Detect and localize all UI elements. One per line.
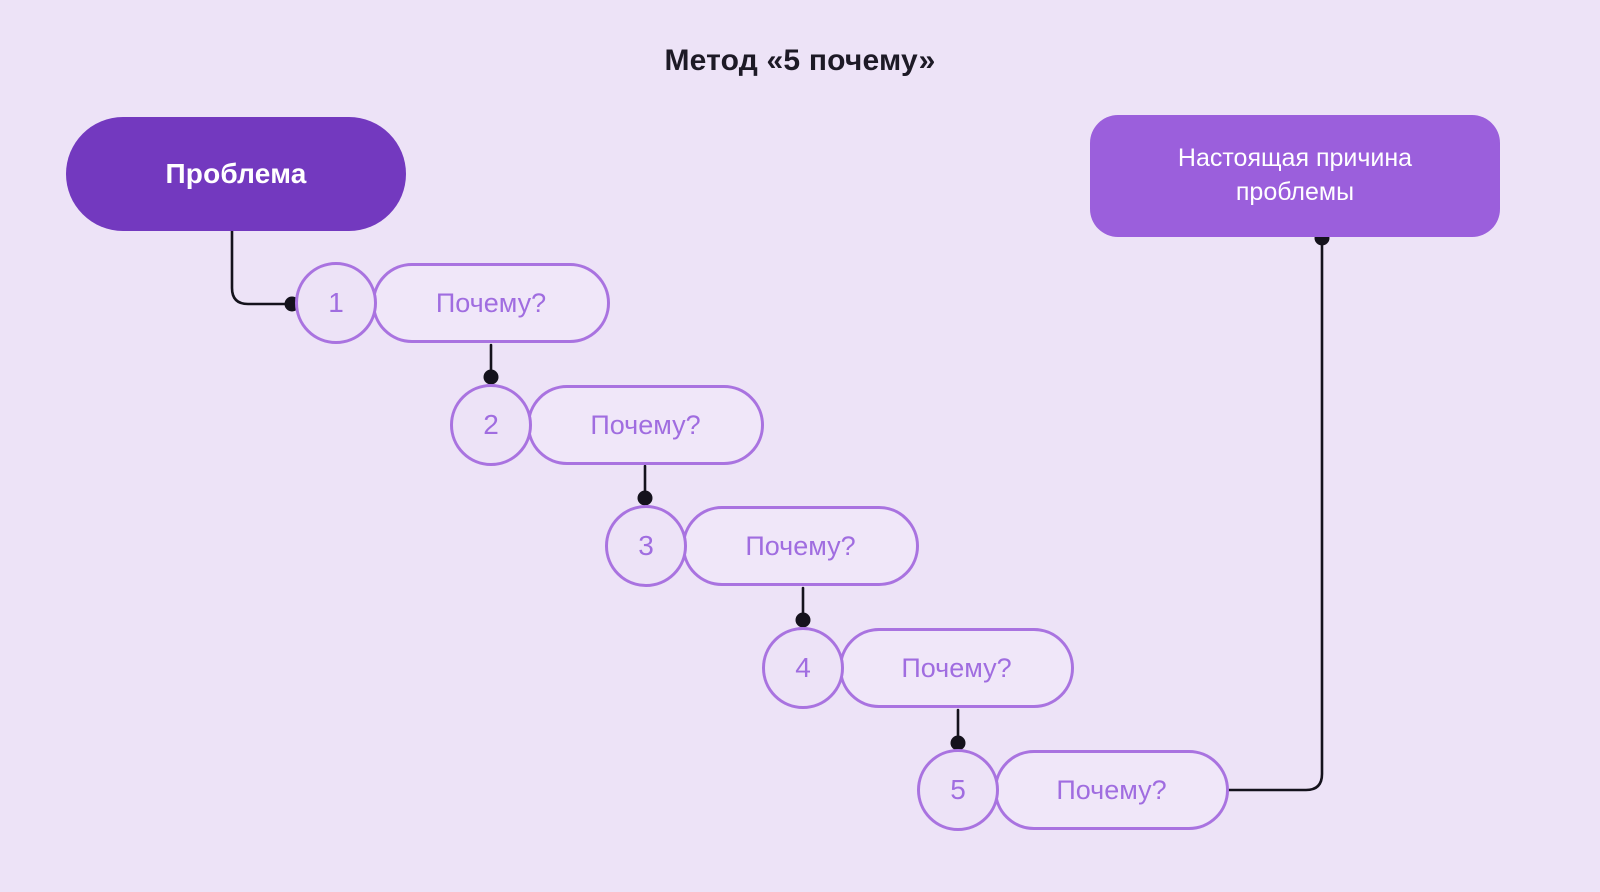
step-5-number: 5 xyxy=(950,774,966,806)
connector-problem-to-1 xyxy=(232,231,290,304)
step-1-number-circle[interactable]: 1 xyxy=(295,262,377,344)
connector-dot-step-4 xyxy=(796,613,811,628)
step-4-number: 4 xyxy=(795,652,811,684)
step-3-question-label: Почему? xyxy=(745,531,855,562)
step-4: 4 Почему? xyxy=(762,627,1074,709)
step-1-number: 1 xyxy=(328,287,344,319)
step-5-number-circle[interactable]: 5 xyxy=(917,749,999,831)
diagram-canvas: Метод «5 почему» Проблема Настоящая прич… xyxy=(0,0,1600,892)
page-title: Метод «5 почему» xyxy=(0,44,1600,78)
step-2-question-pill[interactable]: Почему? xyxy=(527,385,764,465)
step-3-number-circle[interactable]: 3 xyxy=(605,505,687,587)
step-1-question-pill[interactable]: Почему? xyxy=(372,263,610,343)
step-2: 2 Почему? xyxy=(450,384,764,466)
root-cause-label: Настоящая причина проблемы xyxy=(1116,142,1474,210)
step-1: 1 Почему? xyxy=(295,262,610,344)
step-2-question-label: Почему? xyxy=(590,410,700,441)
step-4-question-pill[interactable]: Почему? xyxy=(839,628,1074,708)
connector-dot-step-2 xyxy=(484,370,499,385)
step-4-question-label: Почему? xyxy=(901,653,1011,684)
problem-box[interactable]: Проблема xyxy=(66,117,406,231)
step-2-number: 2 xyxy=(483,409,499,441)
step-1-question-label: Почему? xyxy=(436,288,546,319)
step-5-question-label: Почему? xyxy=(1056,775,1166,806)
problem-label: Проблема xyxy=(165,158,306,190)
step-5: 5 Почему? xyxy=(917,749,1229,831)
step-2-number-circle[interactable]: 2 xyxy=(450,384,532,466)
connector-5-to-root-cause xyxy=(1229,242,1322,790)
step-3-question-pill[interactable]: Почему? xyxy=(682,506,919,586)
step-3: 3 Почему? xyxy=(605,505,919,587)
connector-dot-step-3 xyxy=(638,491,653,506)
step-4-number-circle[interactable]: 4 xyxy=(762,627,844,709)
step-3-number: 3 xyxy=(638,530,654,562)
root-cause-box[interactable]: Настоящая причина проблемы xyxy=(1090,115,1500,237)
step-5-question-pill[interactable]: Почему? xyxy=(994,750,1229,830)
